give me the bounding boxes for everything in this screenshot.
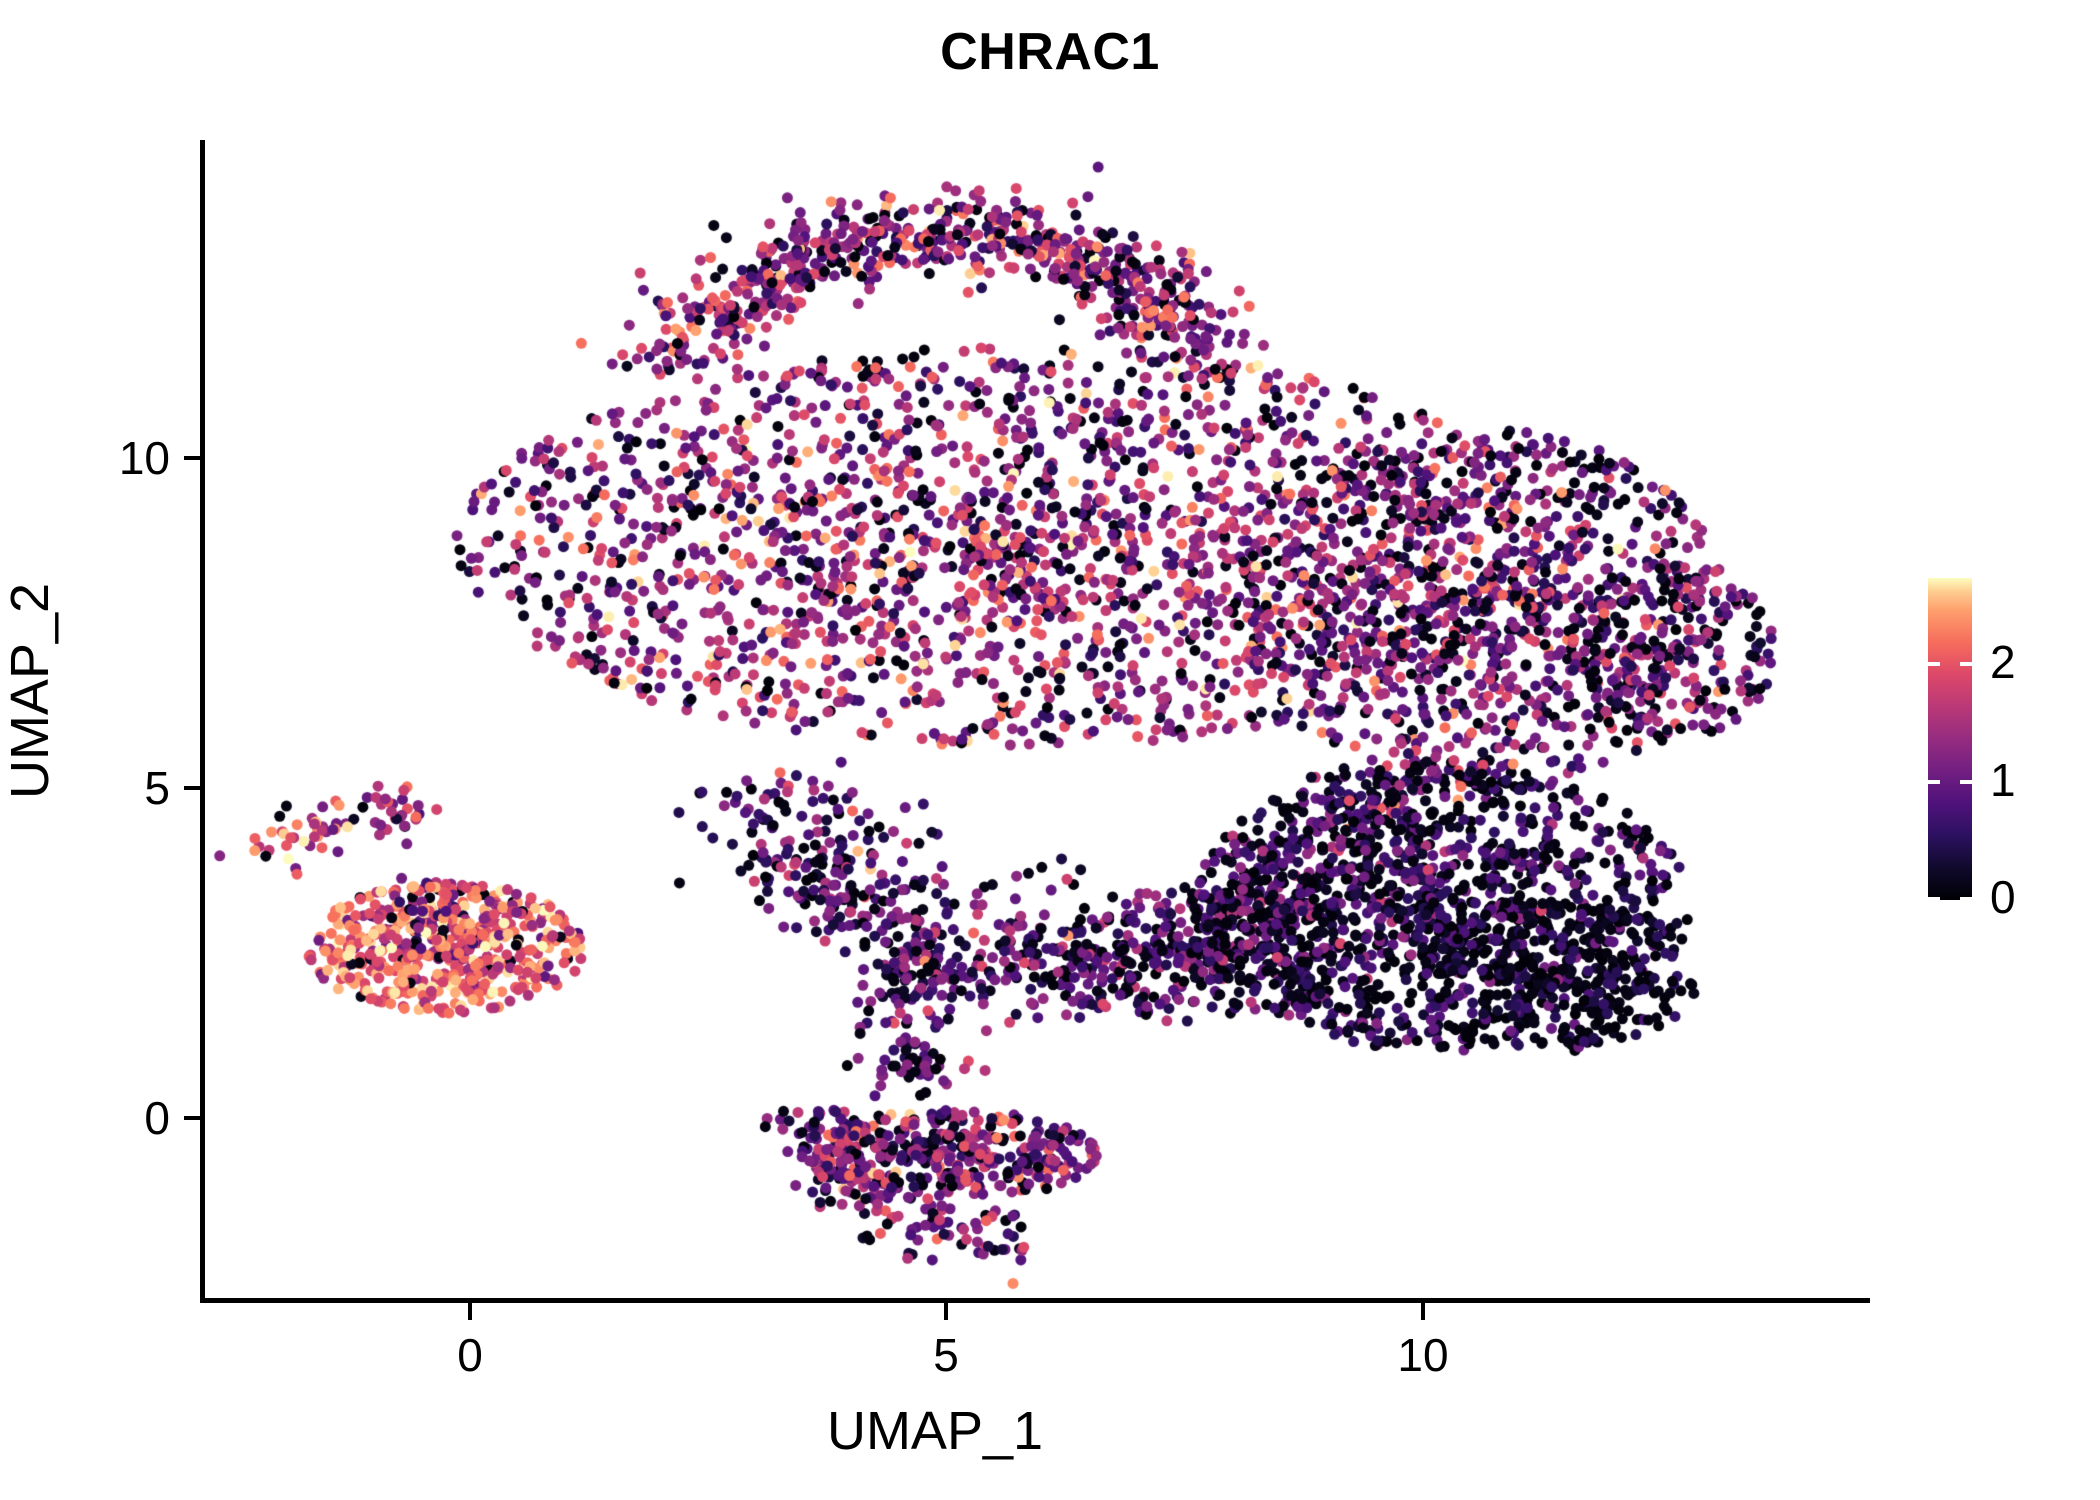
colorbar-tick-0-right [1960,897,1972,901]
scatter-points-canvas [203,140,1870,1300]
colorbar-label-2: 2 [1990,635,2016,689]
y-tick-mark-5 [184,786,200,790]
x-tick-mark-0 [468,1303,472,1320]
colorbar-tick-2-right [1960,662,1972,666]
y-tick-mark-10 [184,456,200,460]
colorbar-tick-0-left [1928,897,1940,901]
page-title: CHRAC1 [0,22,2100,82]
y-tick-label-0: 0 [30,1091,170,1145]
colorbar-label-0: 0 [1990,870,2016,924]
y-tick-mark-0 [184,1116,200,1120]
colorbar-tick-1-right [1960,780,1972,784]
x-tick-label-5: 5 [886,1328,1006,1382]
x-tick-label-10: 10 [1363,1328,1483,1382]
plot-panel [203,140,1870,1300]
chart-figure: CHRAC1 10 5 0 0 5 10 UMAP_1 UMAP_2 2 1 0 [0,0,2100,1500]
x-tick-label-0: 0 [410,1328,530,1382]
colorbar-tick-2-left [1928,662,1940,666]
colorbar-label-1: 1 [1990,753,2016,807]
y-axis-title: UMAP_2 [0,371,61,1011]
colorbar-gradient [1928,578,1972,900]
x-tick-mark-10 [1421,1303,1425,1320]
colorbar-tick-1-left [1928,780,1940,784]
x-tick-mark-5 [944,1303,948,1320]
x-axis-title: UMAP_1 [0,1400,1870,1462]
